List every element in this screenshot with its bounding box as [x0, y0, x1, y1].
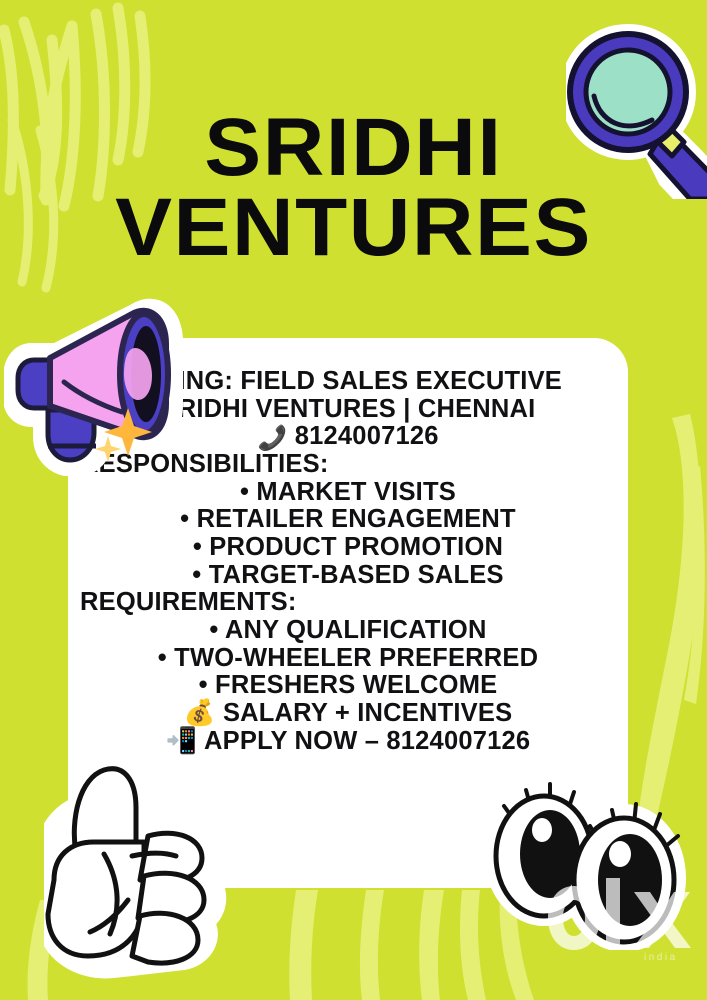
- list-item: • MARKET VISITS: [68, 479, 628, 507]
- list-item: • RETAILER ENGAGEMENT: [68, 506, 628, 534]
- cartoon-eyes-icon: [484, 770, 700, 950]
- telephone-icon: 📞: [257, 425, 287, 451]
- phone-number: 8124007126: [295, 422, 439, 450]
- list-item: • FRESHERS WELCOME: [68, 672, 628, 700]
- list-item: • ANY QUALIFICATION: [68, 617, 628, 645]
- list-item: • PRODUCT PROMOTION: [68, 534, 628, 562]
- line-salary: 💰 SALARY + INCENTIVES: [68, 700, 628, 728]
- list-item: • TWO-WHEELER PREFERRED: [68, 645, 628, 673]
- mobile-phone-arrow-icon: 📲: [166, 726, 198, 756]
- megaphone-icon: [4, 286, 184, 476]
- money-bag-icon: 💰: [184, 698, 216, 728]
- apply-label: APPLY NOW – 8124007126: [204, 727, 530, 755]
- list-item: • TARGET-BASED SALES: [68, 562, 628, 590]
- watermark-region: india: [644, 952, 678, 962]
- salary-label: SALARY + INCENTIVES: [223, 699, 512, 727]
- job-poster: SRIDHI VENTURES HIRING: FIELD SALES EXEC…: [0, 0, 707, 1000]
- thumbs-up-icon: [44, 758, 254, 988]
- heading-requirements: REQUIREMENTS:: [68, 589, 628, 617]
- line-apply: 📲 APPLY NOW – 8124007126: [68, 728, 628, 756]
- magnifying-glass-icon: [566, 24, 707, 199]
- title-line-2: VENTURES: [0, 188, 707, 268]
